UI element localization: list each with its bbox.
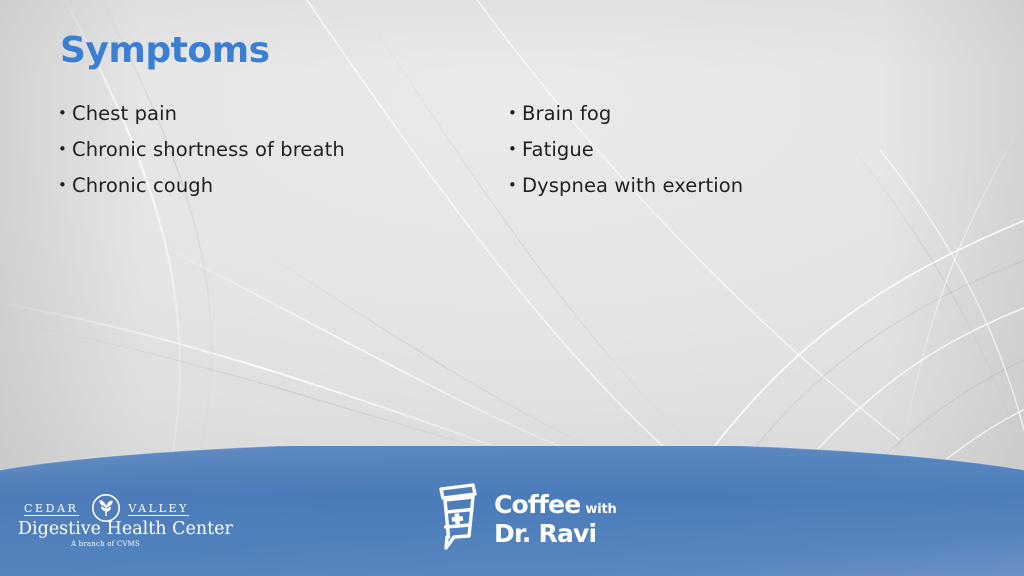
cedar-valley-logo: CEDAR VALLEY Digestive Health Center A b… xyxy=(18,497,193,559)
right-column: • Brain fog • Fatigue • Dyspnea with exe… xyxy=(508,104,958,212)
coffee-with-dr-ravi-logo: Coffee with Dr. Ravi xyxy=(424,481,624,555)
with-text: with xyxy=(585,503,616,516)
list-item: • Fatigue xyxy=(508,140,958,176)
list-item: • Chronic shortness of breath xyxy=(58,140,508,176)
cedar-valley-tagline: A branch of CVMS xyxy=(18,540,193,548)
coffee-cup-medical-cross-icon xyxy=(424,480,488,556)
list-item-label: Fatigue xyxy=(522,140,594,160)
coffee-with-dr-ravi-wordmark: Coffee with Dr. Ravi xyxy=(494,490,617,546)
bullet-icon: • xyxy=(58,106,72,121)
bullet-icon: • xyxy=(58,178,72,193)
list-item: • Chronic cough xyxy=(58,176,508,212)
bullet-icon: • xyxy=(508,142,522,157)
coffee-text: Coffee xyxy=(494,492,580,517)
dr-ravi-text: Dr. Ravi xyxy=(494,521,617,546)
cedar-valley-cedar-text: CEDAR xyxy=(24,503,79,516)
list-item-label: Chronic shortness of breath xyxy=(72,140,345,160)
list-item: • Brain fog xyxy=(508,104,958,140)
list-item-label: Chest pain xyxy=(72,104,177,124)
list-item: • Dyspnea with exertion xyxy=(508,176,958,212)
slide-title: Symptoms xyxy=(60,30,270,71)
bullet-icon: • xyxy=(508,178,522,193)
bullet-icon: • xyxy=(58,142,72,157)
bullet-icon: • xyxy=(508,106,522,121)
list-item-label: Brain fog xyxy=(522,104,611,124)
content-columns: • Chest pain • Chronic shortness of brea… xyxy=(0,104,1024,212)
list-item-label: Chronic cough xyxy=(72,176,213,196)
tree-circle-icon xyxy=(91,493,121,527)
left-column: • Chest pain • Chronic shortness of brea… xyxy=(58,104,508,212)
cedar-valley-wordmark: CEDAR VALLEY xyxy=(18,497,193,519)
list-item: • Chest pain xyxy=(58,104,508,140)
cedar-valley-valley-text: VALLEY xyxy=(128,503,189,516)
presentation-slide: Symptoms • Chest pain • Chronic shortnes… xyxy=(0,0,1024,576)
list-item-label: Dyspnea with exertion xyxy=(522,176,743,196)
